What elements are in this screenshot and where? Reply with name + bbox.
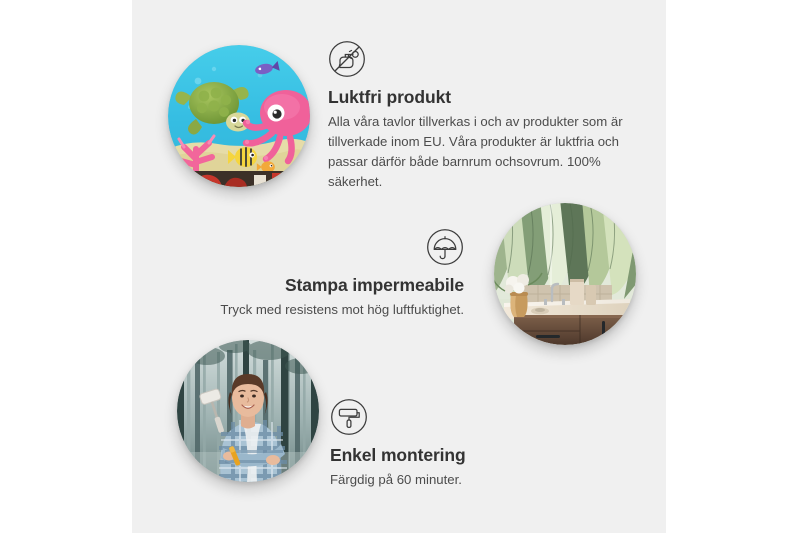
feature-text-waterproof-print: Stampa impermeabile Tryck med resistens … xyxy=(180,228,464,320)
feature-infographic-page: Luktfri produkt Alla våra tavlor tillver… xyxy=(0,0,800,533)
feature-heading: Luktfri produkt xyxy=(328,87,628,107)
feature-heading: Enkel montering xyxy=(330,445,610,465)
bathroom-botanical-wallpaper-photo xyxy=(494,203,636,345)
no-perfume-bottle-icon xyxy=(328,40,366,78)
underwater-kids-scene-photo xyxy=(168,45,310,187)
paint-roller-icon xyxy=(330,398,368,436)
feature-description: Alla våra tavlor tillverkas i och av pro… xyxy=(328,112,628,192)
feature-description: Färgdig på 60 minuter. xyxy=(330,470,610,490)
feature-text-easy-installation: Enkel montering Färgdig på 60 minuter. xyxy=(330,398,610,490)
umbrella-icon xyxy=(426,228,464,266)
woman-with-paint-roller-forest-photo xyxy=(177,340,319,482)
feature-description: Tryck med resistens mot hög luftfuktighe… xyxy=(180,300,464,320)
feature-text-odor-free: Luktfri produkt Alla våra tavlor tillver… xyxy=(328,40,628,192)
feature-heading: Stampa impermeabile xyxy=(180,275,464,295)
